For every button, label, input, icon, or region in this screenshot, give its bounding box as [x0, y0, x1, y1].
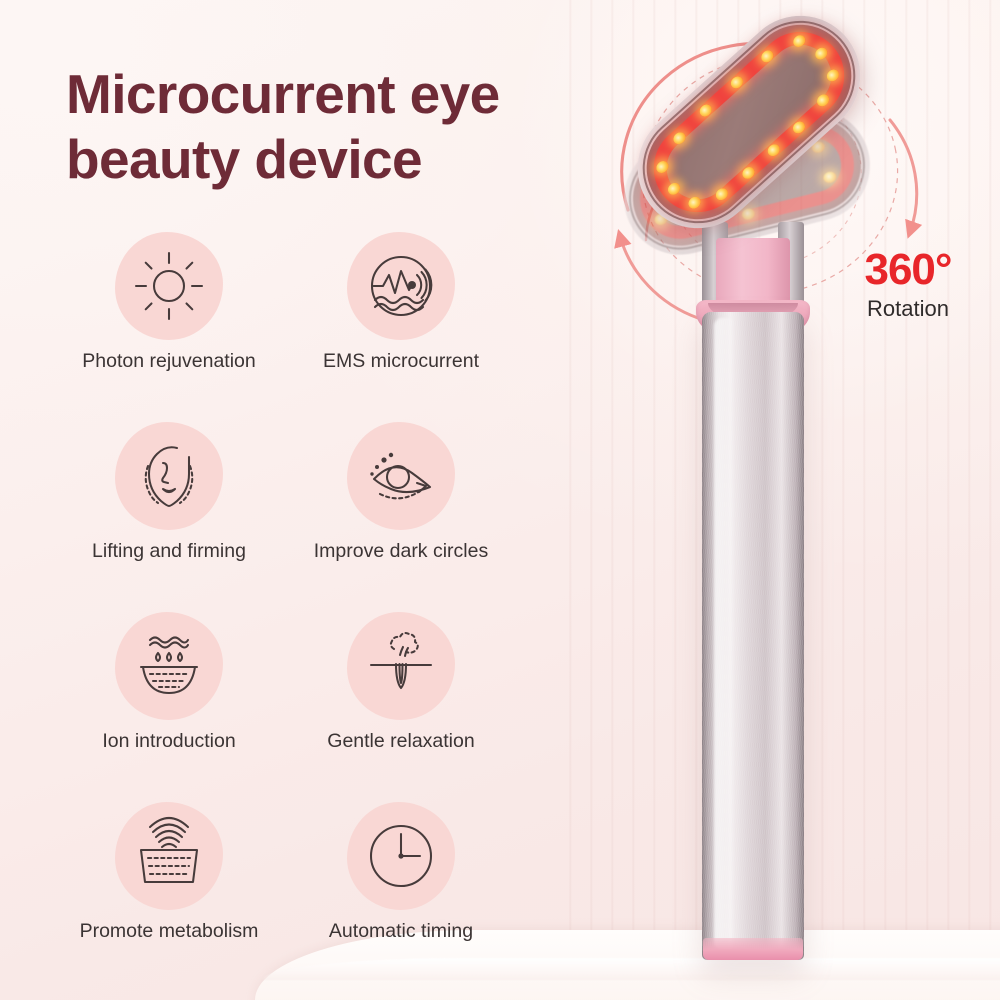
feature-item-promote-metabolism: Promote metabolism [62, 798, 276, 980]
rotation-callout: 360° Rotation [838, 248, 978, 322]
rotation-degrees: 360° [838, 248, 978, 292]
feature-label: Photon rejuvenation [62, 350, 276, 373]
eye-icon [362, 439, 440, 513]
page-title-line-2: beauty device [66, 127, 666, 192]
pore-steam-icon [362, 630, 440, 702]
feature-icon-badge [115, 422, 223, 530]
feature-label: Gentle relaxation [294, 730, 508, 753]
product-device-illustration: 360° Rotation [590, 0, 1000, 1000]
feature-icon-badge [347, 232, 455, 340]
device-handle-base [703, 938, 803, 960]
sun-icon [132, 249, 206, 323]
feature-item-improve-dark-circles: Improve dark circles [294, 418, 508, 600]
feature-label: EMS microcurrent [294, 350, 508, 373]
clock-icon [364, 819, 438, 893]
rotation-arrow-right [890, 120, 917, 232]
feature-icon-badge [347, 422, 455, 530]
skin-waves-icon [129, 820, 209, 892]
page-title: Microcurrent eye beauty device [66, 62, 666, 192]
device-handle-highlight [714, 318, 736, 950]
page-title-line-1: Microcurrent eye [66, 62, 666, 127]
feature-icon-badge [347, 802, 455, 910]
feature-item-ems-microcurrent: EMS microcurrent [294, 228, 508, 410]
feature-label: Ion introduction [62, 730, 276, 753]
feature-label: Improve dark circles [294, 540, 508, 563]
feature-label: Promote metabolism [62, 920, 276, 943]
feature-label: Automatic timing [294, 920, 508, 943]
product-marketing-banner: Microcurrent eye beauty device [0, 0, 1000, 1000]
feature-item-ion-introduction: Ion introduction [62, 608, 276, 790]
feature-label: Lifting and firming [62, 540, 276, 563]
rotation-label: Rotation [838, 296, 978, 322]
feature-item-gentle-relaxation: Gentle relaxation [294, 608, 508, 790]
water-droplet-skin-icon [130, 631, 208, 701]
ems-wave-icon [364, 249, 438, 323]
feature-item-automatic-timing: Automatic timing [294, 798, 508, 980]
feature-icon-badge [115, 802, 223, 910]
feature-icon-badge [347, 612, 455, 720]
face-profile-icon [132, 439, 206, 513]
feature-icon-badge [115, 232, 223, 340]
feature-item-photon-rejuvenation: Photon rejuvenation [62, 228, 276, 410]
feature-list: Photon rejuvenation EMS microcurrent [62, 228, 582, 980]
feature-item-lifting-and-firming: Lifting and firming [62, 418, 276, 600]
feature-icon-badge [115, 612, 223, 720]
